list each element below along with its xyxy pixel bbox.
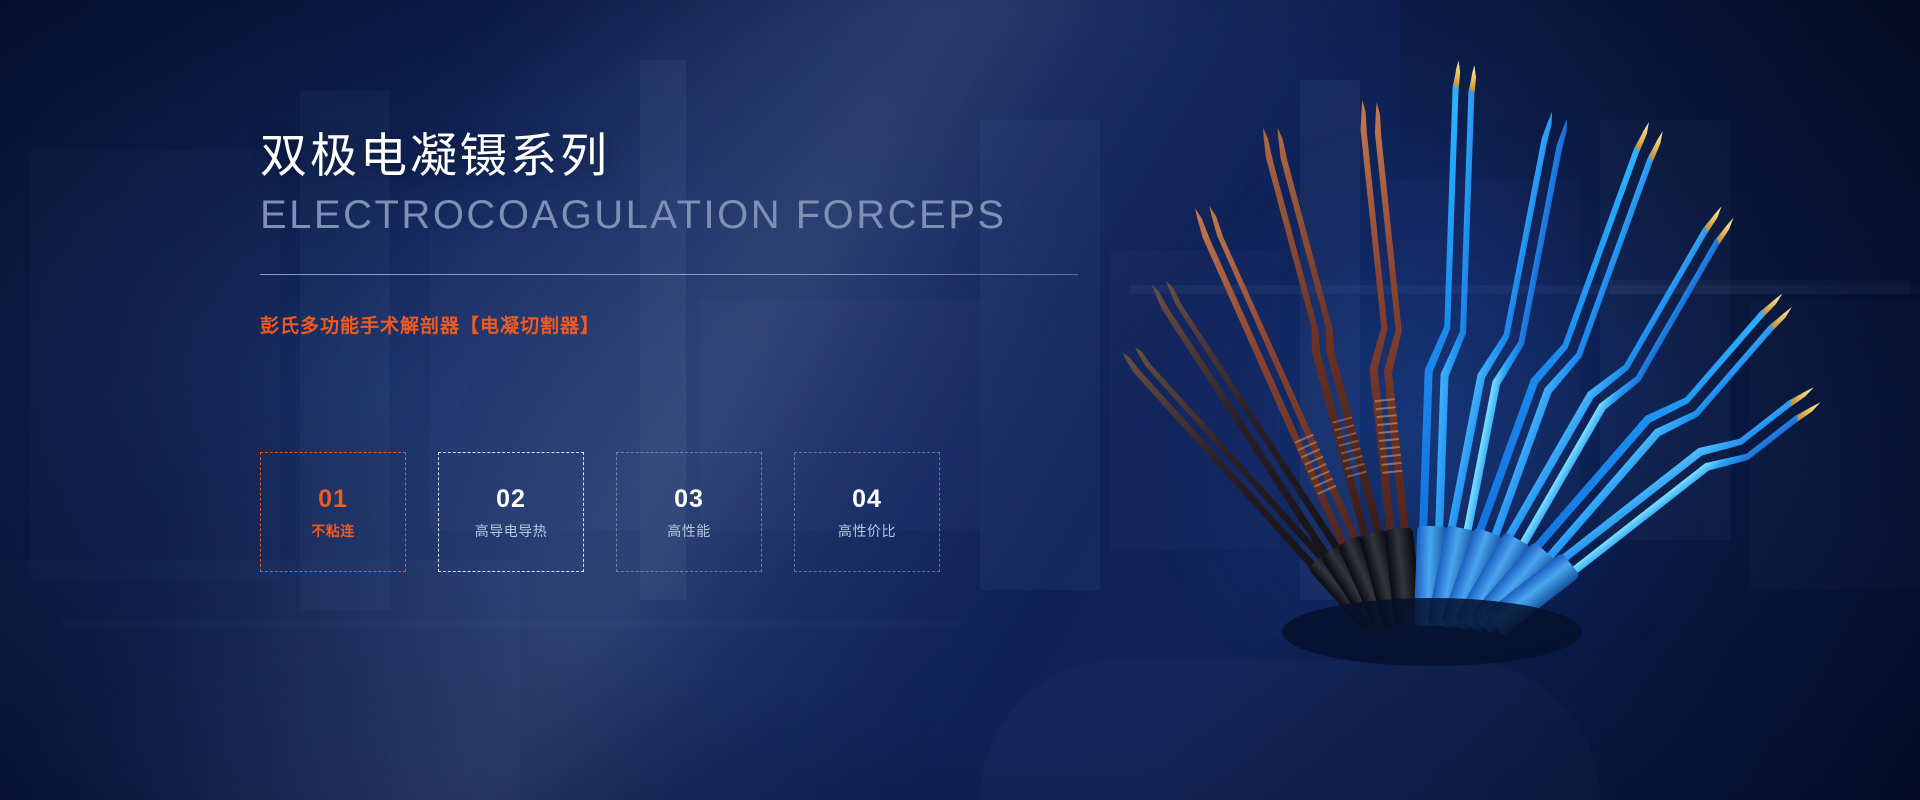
- feature-number: 03: [674, 487, 704, 512]
- feature-label: 不粘连: [311, 524, 355, 538]
- feature-list: 01 不粘连 02 高导电导热 03 高性能 04 高性价比: [260, 452, 940, 572]
- feature-number: 04: [852, 487, 882, 512]
- feature-number: 02: [496, 487, 526, 512]
- feature-label: 高性价比: [838, 524, 896, 538]
- feature-item-04[interactable]: 04 高性价比: [794, 452, 940, 572]
- product-tagline: 彭氏多功能手术解剖器【电凝切割器】: [260, 311, 1120, 338]
- feature-item-03[interactable]: 03 高性能: [616, 452, 762, 572]
- product-banner: 双极电凝镊系列 ELECTROCOAGULATION FORCEPS 彭氏多功能…: [0, 0, 1920, 800]
- feature-number: 01: [318, 487, 348, 512]
- feature-item-01[interactable]: 01 不粘连: [260, 452, 406, 572]
- banner-text-block: 双极电凝镊系列 ELECTROCOAGULATION FORCEPS 彭氏多功能…: [260, 128, 1120, 338]
- divider: [260, 274, 1078, 275]
- feature-label: 高性能: [667, 524, 711, 538]
- forceps-fan-image: [1060, 20, 1740, 680]
- feature-label: 高导电导热: [475, 524, 548, 538]
- feature-item-02[interactable]: 02 高导电导热: [438, 452, 584, 572]
- page-subtitle-english: ELECTROCOAGULATION FORCEPS: [260, 193, 1120, 238]
- page-title: 双极电凝镊系列: [260, 128, 1120, 183]
